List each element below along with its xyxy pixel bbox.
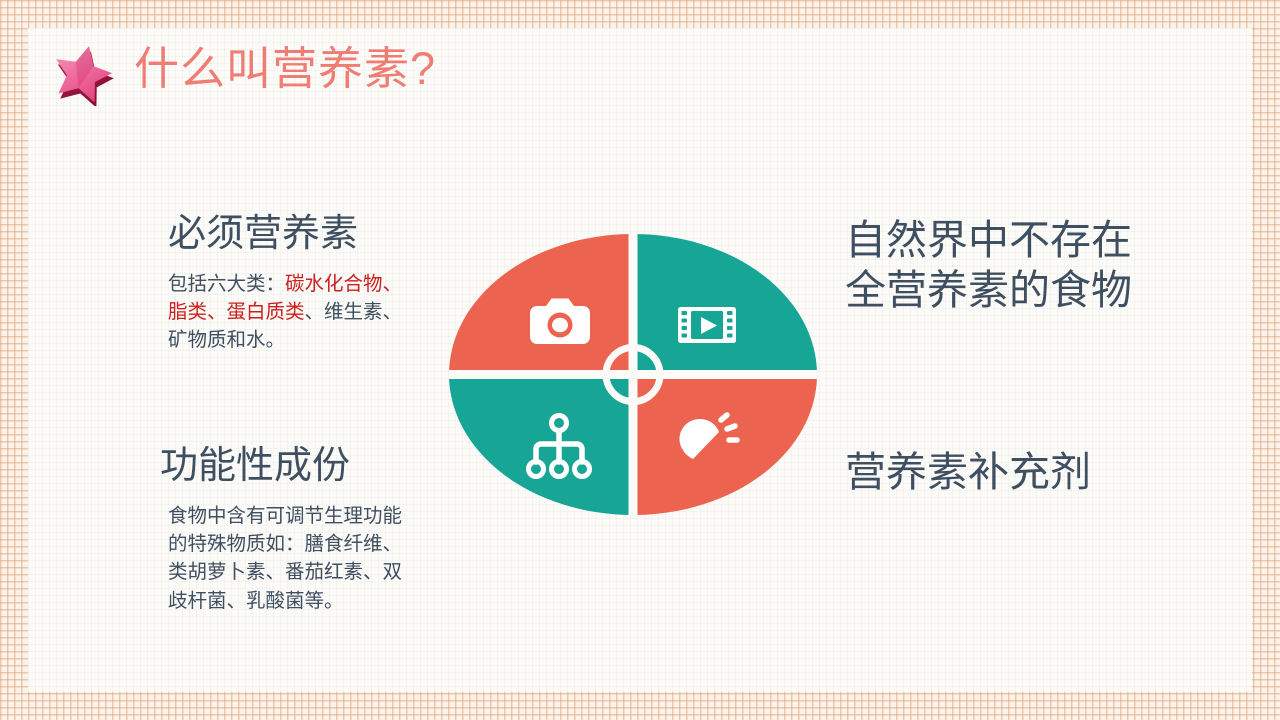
supplement-heading: 营养素补充剂 (845, 450, 1091, 495)
block-nutrient-supplement: 营养素补充剂 (845, 450, 1091, 495)
slide-canvas: 什么叫营养素? 必须营养素 包括六大类：碳水化合物、脂类、蛋白质类、维生素、矿物… (0, 0, 1280, 720)
star-icon (44, 30, 120, 106)
quadrant-top-right[interactable] (633, 234, 817, 375)
functional-heading: 功能性成份 (160, 446, 418, 488)
film-play-icon (678, 307, 736, 343)
block-functional-components: 功能性成份 食物中含有可调节生理功能的特殊物质如：膳食纤维、类胡萝卜素、番茄红素… (160, 446, 418, 615)
no-complete-food-heading-line2: 全营养素的食物 (845, 265, 1132, 315)
essential-body: 包括六大类：碳水化合物、脂类、蛋白质类、维生素、矿物质和水。 (168, 270, 420, 355)
quadrant-bottom-right[interactable] (633, 375, 817, 516)
block-essential-nutrients: 必须营养素 包括六大类：碳水化合物、脂类、蛋白质类、维生素、矿物质和水。 (168, 214, 420, 355)
essential-body-lead: 包括六大类： (168, 273, 285, 295)
no-complete-food-heading-line1: 自然界中不存在 (845, 215, 1132, 265)
functional-body: 食物中含有可调节生理功能的特殊物质如：膳食纤维、类胡萝卜素、番茄红素、双歧杆菌、… (160, 502, 418, 615)
essential-heading: 必须营养素 (168, 214, 420, 256)
quadrant-wheel-diagram (449, 234, 817, 515)
block-no-complete-food: 自然界中不存在 全营养素的食物 (845, 215, 1132, 315)
title-row: 什么叫营养素? (44, 30, 436, 106)
quadrant-top-left[interactable] (449, 234, 633, 375)
page-title: 什么叫营养素? (134, 46, 436, 91)
